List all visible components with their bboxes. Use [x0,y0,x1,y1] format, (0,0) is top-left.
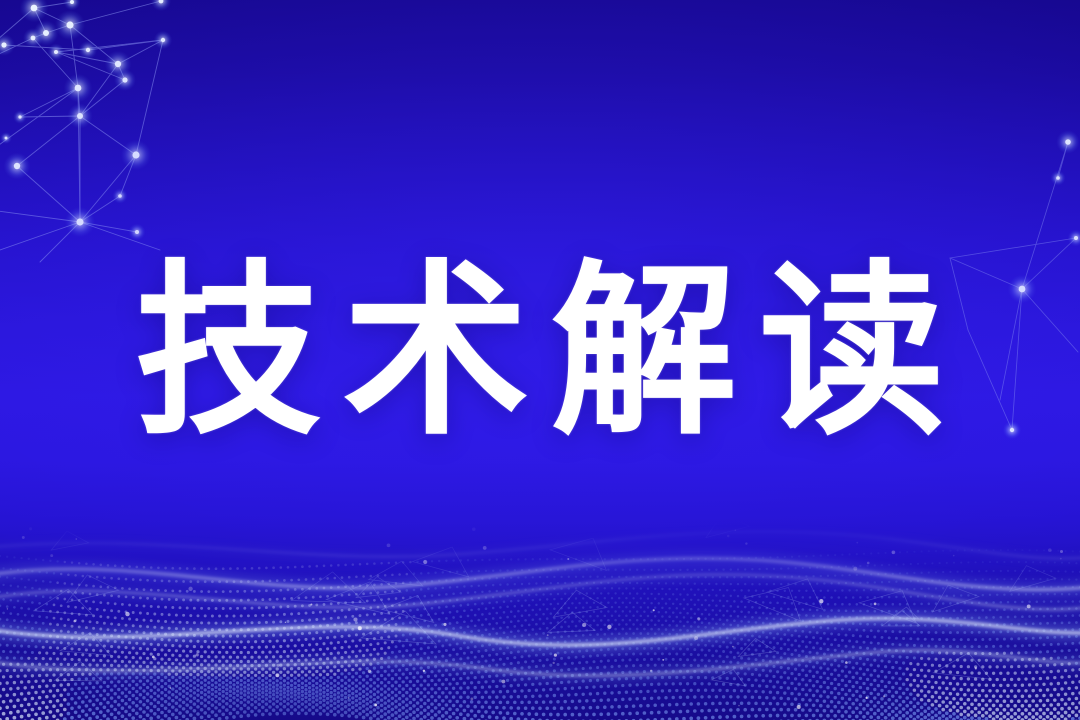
poster-canvas: 技术解读 [0,0,1080,720]
title-block: 技术解读 [0,252,1080,452]
wave-mesh [0,0,1080,720]
network-top-right [0,0,1080,720]
vignette-overlay [0,0,1080,720]
page-title: 技术解读 [113,259,967,445]
network-top-left [0,0,1080,720]
